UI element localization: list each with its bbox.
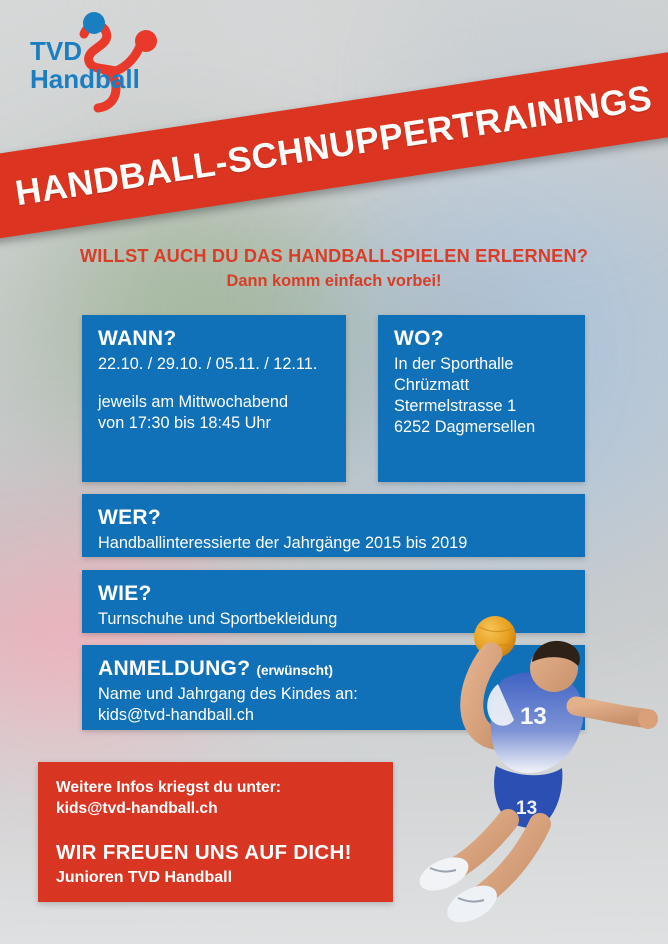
subheadline-line-1: WILLST AUCH DU DAS HANDBALLSPIELEN ERLER… (0, 244, 668, 268)
kontakt-headline: WIR FREUEN UNS AUF DICH! (56, 839, 375, 866)
wer-text: Handballinteressierte der Jahrgänge 2015… (98, 533, 569, 554)
logo-text-handball: Handball (30, 64, 140, 94)
subheadline-line-2: Dann komm einfach vorbei! (0, 271, 668, 293)
wo-street: Stermelstrasse 1 (394, 396, 569, 417)
subheadline: WILLST AUCH DU DAS HANDBALLSPIELEN ERLER… (0, 244, 668, 293)
wer-heading: WER? (98, 506, 569, 531)
info-box-wann: WANN? 22.10. / 29.10. / 05.11. / 12.11. … (82, 315, 346, 482)
photo-credit: pixtrea.ch | sportspodel.ch (0, 870, 1, 936)
wann-dates: 22.10. / 29.10. / 05.11. / 12.11. (98, 354, 330, 375)
info-box-wo: WO? In der Sporthalle Chrüzmatt Stermels… (378, 315, 585, 482)
logo-ball-dot (135, 30, 157, 52)
wann-heading: WANN? (98, 327, 330, 352)
wo-venue: In der Sporthalle (394, 354, 569, 375)
kontakt-signature: Junioren TVD Handball (56, 867, 375, 888)
contact-box: Weitere Infos kriegst du unter: kids@tvd… (38, 762, 393, 902)
handball-player-photo: 13 13 (408, 606, 658, 944)
logo-head-dot (83, 12, 105, 34)
wie-heading: WIE? (98, 582, 569, 607)
anmeldung-heading-main: ANMELDUNG? (98, 657, 250, 680)
poster-canvas: TVD Handball HANDBALL-SCHNUPPERTRAININGS… (0, 0, 668, 944)
logo-text-tvd: TVD (30, 36, 82, 66)
anmeldung-heading-note: (erwünscht) (256, 663, 333, 678)
kontakt-line-1: Weitere Infos kriegst du unter: (56, 778, 375, 799)
wo-city: 6252 Dagmersellen (394, 417, 569, 438)
tvd-handball-logo: TVD Handball (24, 8, 224, 120)
wann-time: von 17:30 bis 18:45 Uhr (98, 413, 330, 434)
info-box-wer: WER? Handballinteressierte der Jahrgänge… (82, 494, 585, 557)
jersey-number: 13 (520, 703, 547, 730)
wo-heading: WO? (394, 327, 569, 352)
kontakt-email[interactable]: kids@tvd-handball.ch (56, 799, 375, 820)
wann-weekday: jeweils am Mittwochabend (98, 392, 330, 413)
wo-venue-name: Chrüzmatt (394, 375, 569, 396)
